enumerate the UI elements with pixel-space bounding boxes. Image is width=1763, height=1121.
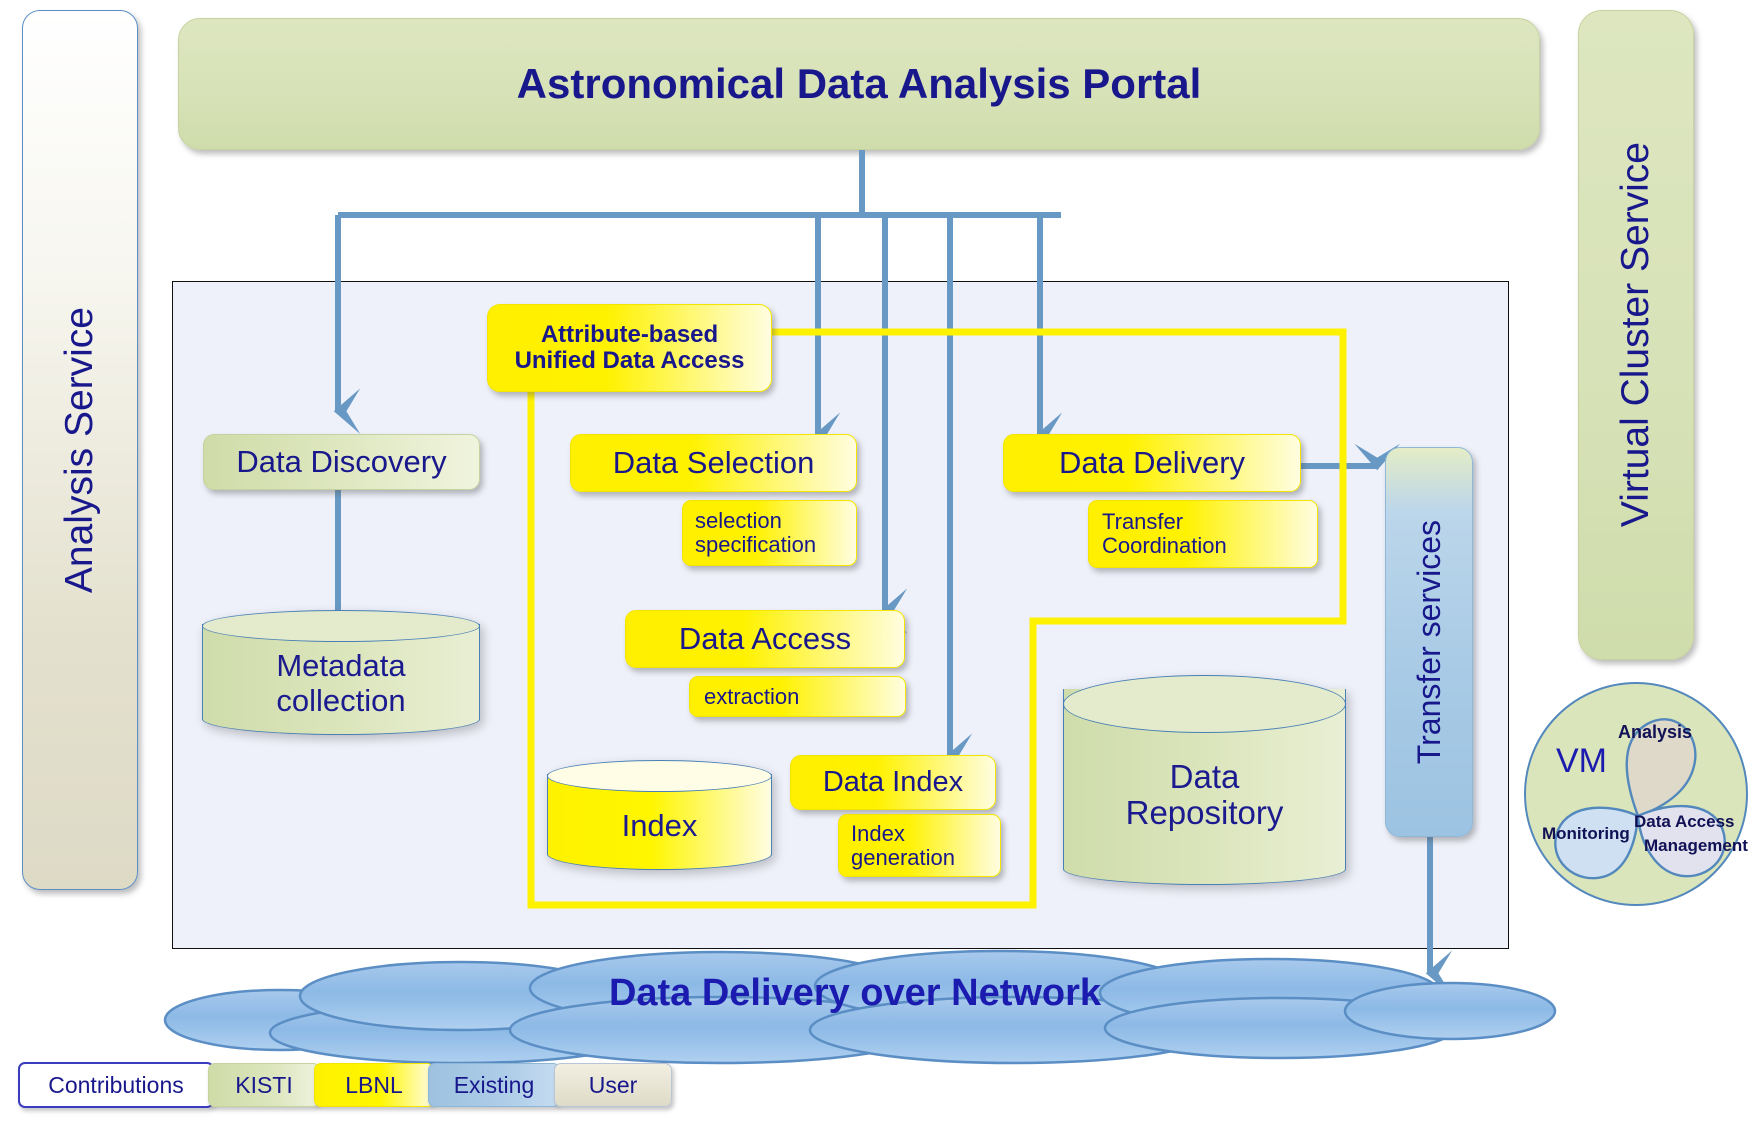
legend-item-lbnl: LBNL — [314, 1063, 434, 1107]
data-selection-label: Data Selection — [613, 446, 815, 479]
legend-item-label: User — [589, 1072, 638, 1099]
data-delivery-box[interactable]: Data Delivery — [1003, 434, 1301, 492]
legend-item-existing: Existing — [428, 1063, 560, 1107]
data-repository-line1: Data — [1170, 759, 1240, 795]
network-cloud-label: Data Delivery over Network — [160, 972, 1550, 1015]
legend-item-label: KISTI — [235, 1072, 293, 1099]
transfer-services-box[interactable]: Transfer services — [1385, 447, 1473, 837]
vm-petal-dam-label-line2: Management — [1644, 836, 1748, 856]
legend: Contributions KISTI LBNL Existing User — [18, 1060, 718, 1110]
unified-data-access-line2: Unified Data Access — [515, 348, 745, 374]
index-label: Index — [622, 809, 698, 843]
legend-item-label: LBNL — [345, 1072, 403, 1099]
vm-petal-dam-label-line1: Data Access — [1634, 812, 1735, 832]
index-generation-line2: generation — [851, 846, 955, 870]
extraction-label: extraction — [704, 685, 799, 709]
diagram-canvas: Analysis Service Virtual Cluster Service… — [0, 0, 1763, 1121]
metadata-collection-line2: collection — [276, 684, 405, 718]
index-generation-line1: Index — [851, 822, 905, 846]
vm-petal-analysis-label: Analysis — [1618, 722, 1692, 743]
extraction-box[interactable]: extraction — [689, 676, 906, 717]
selection-specification-line2: specification — [695, 533, 816, 557]
legend-title: Contributions — [48, 1072, 184, 1099]
transfer-coordination-line1: Transfer — [1102, 510, 1183, 534]
vm-petal-monitoring-label: Monitoring — [1542, 824, 1630, 844]
unified-data-access-box[interactable]: Attribute-based Unified Data Access — [487, 304, 772, 392]
index-generation-box[interactable]: Index generation — [838, 814, 1001, 877]
legend-item-label: Existing — [454, 1072, 535, 1099]
transfer-coordination-line2: Coordination — [1102, 534, 1227, 558]
data-discovery-label: Data Discovery — [236, 445, 446, 478]
network-cloud[interactable]: Data Delivery over Network — [160, 948, 1550, 1066]
transfer-services-label: Transfer services — [1412, 520, 1447, 764]
legend-title-chip: Contributions — [18, 1062, 214, 1108]
data-access-box[interactable]: Data Access — [625, 610, 905, 668]
selection-specification-box[interactable]: selection specification — [682, 500, 857, 566]
vm-petals — [1526, 684, 1750, 908]
data-delivery-label: Data Delivery — [1059, 446, 1245, 479]
data-selection-box[interactable]: Data Selection — [570, 434, 857, 492]
legend-item-kisti: KISTI — [208, 1063, 320, 1107]
metadata-collection-line1: Metadata — [276, 649, 405, 683]
vm-label: VM — [1556, 742, 1607, 781]
data-repository-line2: Repository — [1126, 795, 1284, 831]
data-index-label: Data Index — [823, 767, 963, 798]
data-access-label: Data Access — [679, 622, 851, 655]
selection-specification-line1: selection — [695, 509, 782, 533]
transfer-coordination-box[interactable]: Transfer Coordination — [1088, 500, 1318, 568]
data-discovery-box[interactable]: Data Discovery — [203, 434, 480, 490]
metadata-collection-cylinder[interactable]: Metadata collection — [202, 610, 480, 735]
unified-data-access-line1: Attribute-based — [541, 322, 718, 348]
legend-item-user: User — [554, 1063, 672, 1107]
data-index-box[interactable]: Data Index — [790, 755, 996, 810]
data-repository-cylinder[interactable]: Data Repository — [1063, 675, 1346, 885]
vm-circle[interactable]: VM Analysis Data Access Management Monit… — [1524, 682, 1748, 906]
index-cylinder[interactable]: Index — [547, 760, 772, 870]
